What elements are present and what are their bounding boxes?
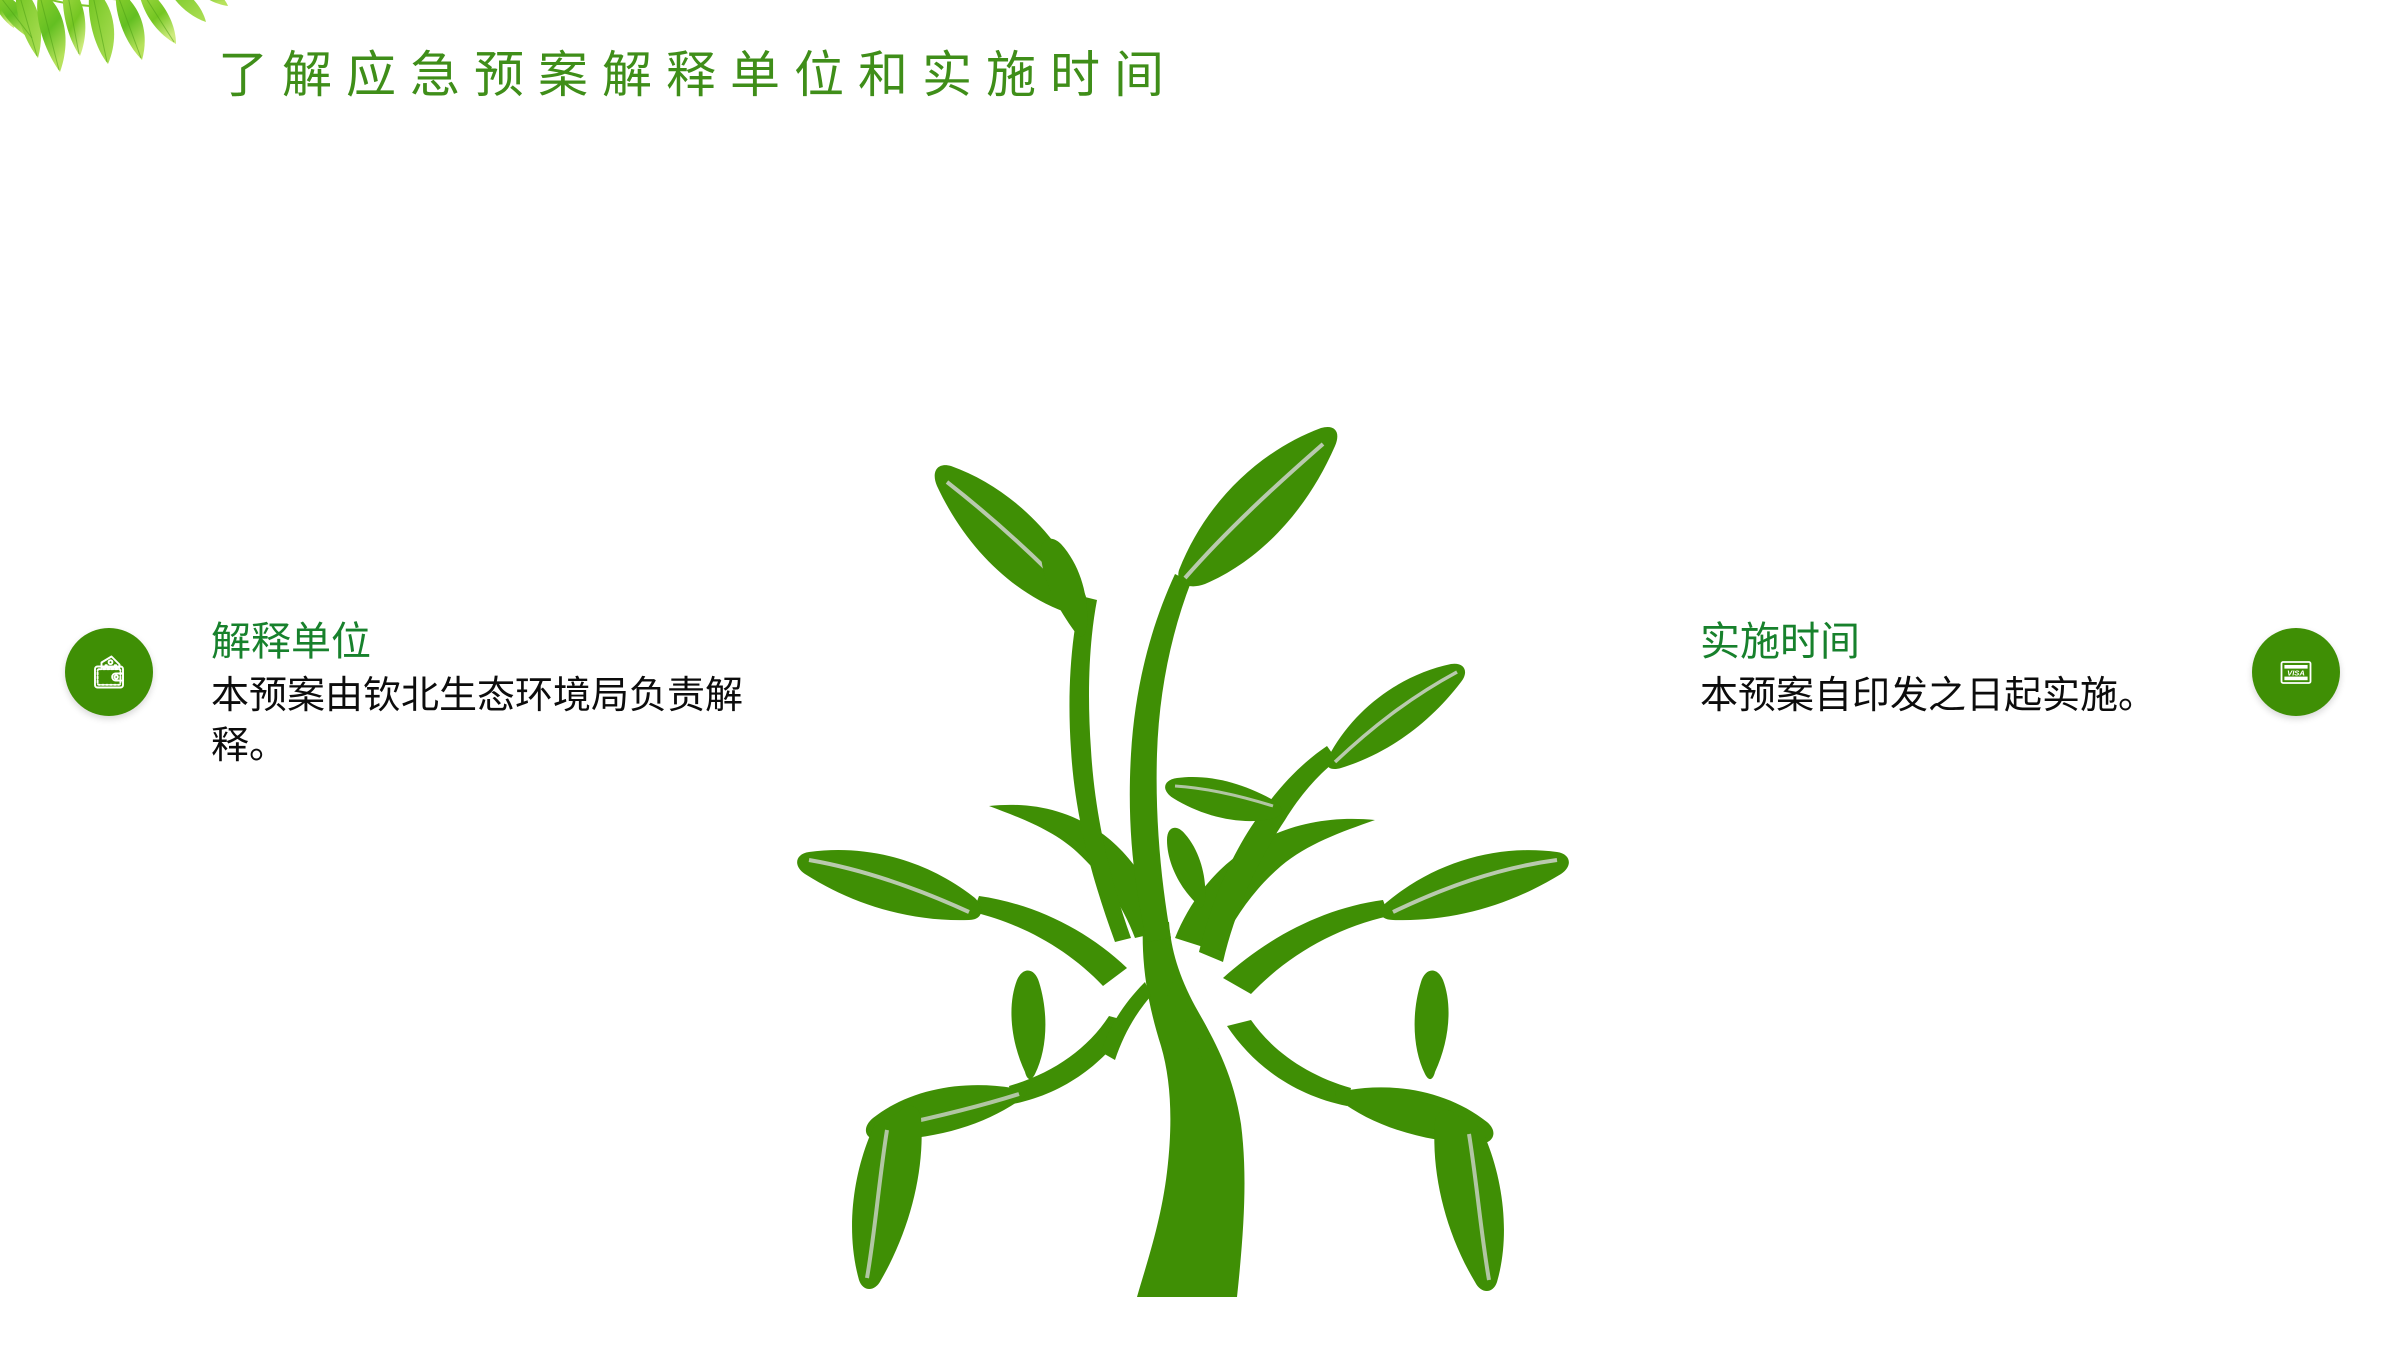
tree-shape [797,427,1569,1297]
visa-card-icon: VISA [2273,649,2319,695]
info-body-right: 本预案自印发之日起实施。 [1700,671,2200,721]
page-title: 了解应急预案解释单位和实施时间 [218,48,1178,103]
wallet-icon [86,649,132,695]
slide-canvas: 了解应急预案解释单位和实施时间 [0,0,2400,1350]
info-text-left: 解释单位 本预案由钦北生态环境局负责解释。 [211,620,781,771]
info-heading-left: 解释单位 [211,620,781,665]
svg-text:VISA: VISA [2287,668,2305,677]
wallet-icon-badge[interactable] [65,628,153,716]
info-body-left: 本预案由钦北生态环境局负责解释。 [211,671,781,771]
leaf-shapes [0,0,228,72]
visa-card-icon-badge[interactable]: VISA [2252,628,2340,716]
tree-illustration [775,382,1675,1297]
info-text-right: 实施时间 本预案自印发之日起实施。 [1700,620,2200,721]
leaf-cluster-decoration [0,0,250,132]
info-heading-right: 实施时间 [1700,620,2200,665]
info-block-implementation-time: 实施时间 本预案自印发之日起实施。 VISA [1700,620,2340,721]
info-block-explanation-unit: 解释单位 本预案由钦北生态环境局负责解释。 [65,620,795,771]
